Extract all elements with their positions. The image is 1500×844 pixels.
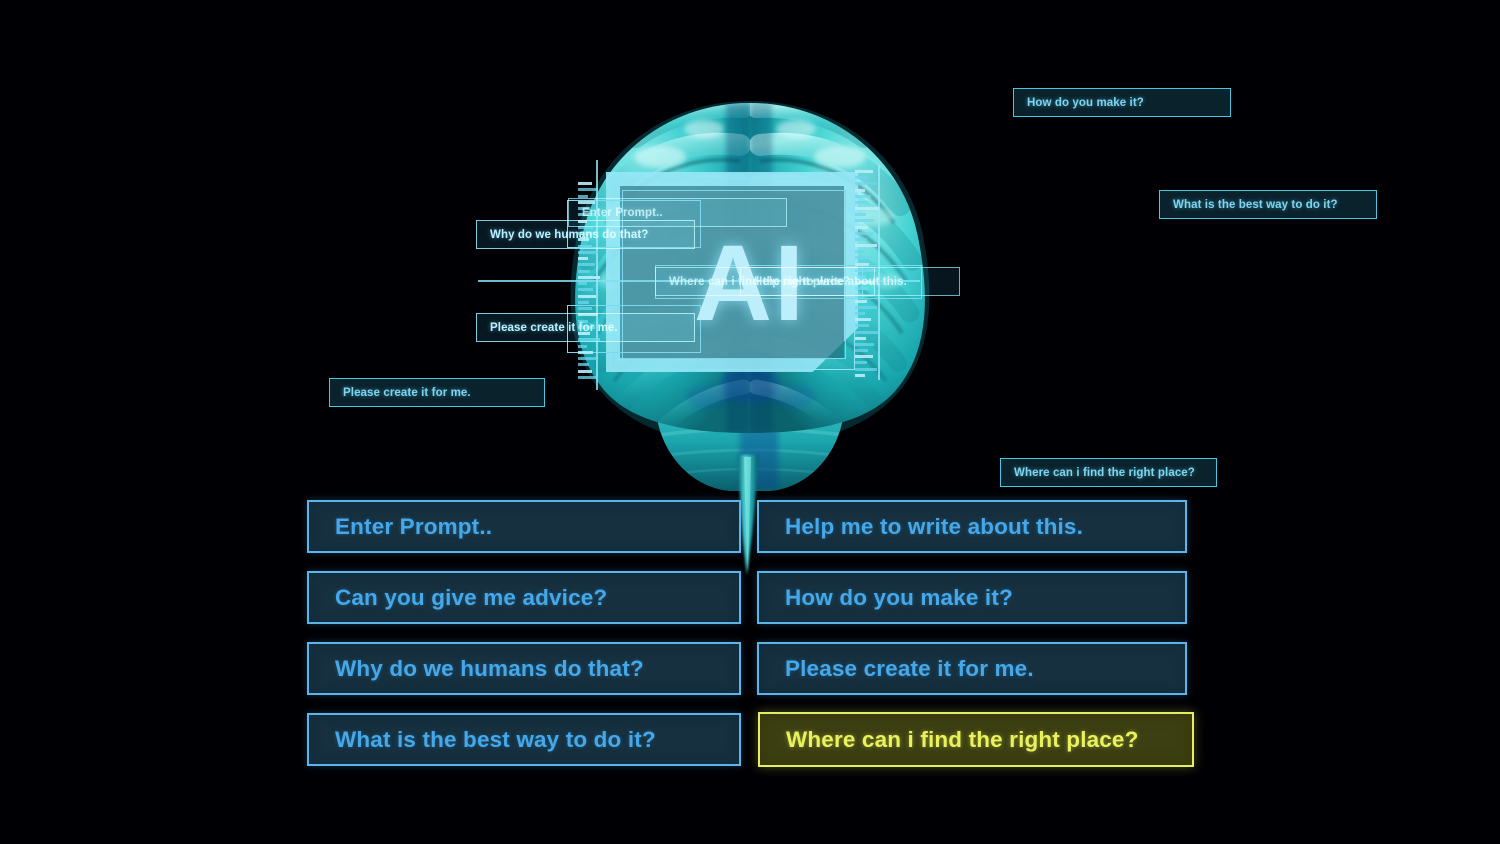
prompt-option-right-place[interactable]: Where can i find the right place? <box>758 712 1194 767</box>
prompt-option-help-write[interactable]: Help me to write about this. <box>757 500 1187 553</box>
floating-prompt-label-text: Why do we humans do that? <box>490 229 648 241</box>
prompt-option-label: What is the best way to do it? <box>335 727 656 753</box>
brain-stem <box>738 455 758 575</box>
prompt-option-label: How do you make it? <box>785 585 1013 611</box>
prompt-option-label: Help me to write about this. <box>785 514 1083 540</box>
floating-prompt-label-text: Help me to write about this. <box>754 276 907 288</box>
prompt-option-how-make[interactable]: How do you make it? <box>757 571 1187 624</box>
floating-prompt-label[interactable]: Please create it for me. <box>329 378 545 407</box>
prompt-option-label: Where can i find the right place? <box>786 727 1139 753</box>
floating-prompt-label: Enter Prompt.. <box>568 198 787 227</box>
prompt-option-label: Please create it for me. <box>785 656 1034 682</box>
prompt-option-best-way[interactable]: What is the best way to do it? <box>307 713 741 766</box>
floating-prompt-label-text: How do you make it? <box>1027 97 1144 109</box>
floating-prompt-label: Help me to write about this. <box>740 267 960 296</box>
prompt-input-placeholder: Enter Prompt.. <box>335 514 492 540</box>
prompt-option-give-advice[interactable]: Can you give me advice? <box>307 571 741 624</box>
floating-prompt-label-text: Please create it for me. <box>490 322 618 334</box>
prompt-option-please-create[interactable]: Please create it for me. <box>757 642 1187 695</box>
prompt-option-label: Can you give me advice? <box>335 585 607 611</box>
floating-prompt-label[interactable]: Where can i find the right place? <box>1000 458 1217 487</box>
floating-prompt-label: Please create it for me. <box>476 313 695 342</box>
floating-prompt-label-text: Please create it for me. <box>343 387 471 399</box>
floating-prompt-label-text: What is the best way to do it? <box>1173 199 1338 211</box>
prompt-option-label: Why do we humans do that? <box>335 656 644 682</box>
floating-prompt-label[interactable]: What is the best way to do it? <box>1159 190 1377 219</box>
prompt-input-field[interactable]: Enter Prompt.. <box>307 500 741 553</box>
floating-prompt-label-text: Where can i find the right place? <box>1014 467 1195 479</box>
app-stage: AI How do you make it?What is the best w… <box>0 0 1500 844</box>
floating-prompt-label-text: Enter Prompt.. <box>582 207 663 219</box>
floating-prompt-label[interactable]: How do you make it? <box>1013 88 1231 117</box>
prompt-option-why-humans[interactable]: Why do we humans do that? <box>307 642 741 695</box>
